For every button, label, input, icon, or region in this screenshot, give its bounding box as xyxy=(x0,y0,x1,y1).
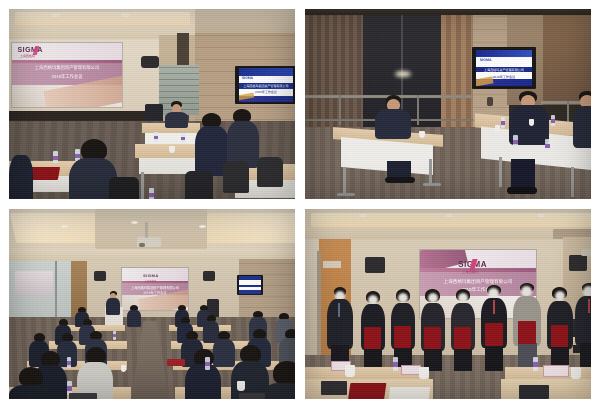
body xyxy=(127,310,141,327)
certificate-folder xyxy=(454,327,471,349)
name-card-2 xyxy=(401,365,421,375)
wall-speaker-left xyxy=(365,257,385,273)
body xyxy=(185,364,221,399)
audience-member-foreground xyxy=(263,361,295,399)
center-table-leg-left xyxy=(141,172,144,199)
audience-member-foreground xyxy=(185,349,221,399)
scene-classroom-audience: SIGMA 上海西格玛 上海西格玛集团资产管理有限公司 2019年工作会议 xyxy=(9,209,295,399)
slide-title-line2: 2019年工作会议 xyxy=(122,290,188,295)
certificate-folder xyxy=(424,327,441,349)
tv-band-top xyxy=(239,68,294,75)
glass-mullion xyxy=(55,261,57,323)
certificate-folder xyxy=(551,325,568,347)
group-person-5 xyxy=(451,289,475,371)
office-chair-4 xyxy=(257,157,283,187)
wall-speaker-right xyxy=(569,255,587,271)
photo-panel-bottom-left[interactable]: SIGMA 上海西格玛 上海西格玛集团资产管理有限公司 2019年工作会议 xyxy=(8,208,296,400)
person-center-shoes xyxy=(507,187,537,194)
downlight-3 xyxy=(537,214,545,217)
right-table-leg-a xyxy=(499,157,502,187)
paper-cup-2 xyxy=(419,367,429,379)
person-body xyxy=(573,106,591,148)
wall-tv-screen xyxy=(239,276,262,294)
certificate-folder xyxy=(364,327,381,349)
face xyxy=(428,293,438,303)
person-presenter xyxy=(164,101,188,127)
lanyard xyxy=(493,300,495,314)
water-bottle-3 xyxy=(53,151,58,163)
laptop-1 xyxy=(69,393,97,399)
attendee-body xyxy=(9,155,33,199)
slide-deck: SIGMA 上海西格玛 上海西格玛集团资产管理有限公司 2019年工作会议 xyxy=(122,268,188,310)
wall-tv: SIGMA 上海西格玛资产管理有限公司 2019年工作会议 xyxy=(472,47,536,89)
photo-panel-top-right[interactable]: SIGMA 上海西格玛资产管理有限公司 2019年工作会议 xyxy=(304,8,592,200)
water-bottle-3 xyxy=(513,135,518,147)
notebook-right xyxy=(519,385,549,399)
slide-title-line1: 上海西格玛集团资产管理有限公司 xyxy=(12,65,122,71)
water-bottle-3 xyxy=(205,357,210,370)
tv-title-line2: 2019年工作会议 xyxy=(476,74,532,79)
group-person-6 xyxy=(481,285,507,371)
wall-tv-screen: SIGMA 上海西格玛集团资产管理有限公司 2019年工作会议 xyxy=(239,68,294,101)
tv-band-bottom xyxy=(239,290,262,294)
water-bottle-2 xyxy=(533,357,538,371)
face xyxy=(555,291,565,301)
photo-panel-top-left[interactable]: SIGMA 上海西格玛 上海西格玛集团资产管理有限公司 2019年工作会议 SI… xyxy=(8,8,296,200)
red-folder xyxy=(167,359,185,366)
wall-exit-sign xyxy=(323,261,341,268)
wall-socket-panel xyxy=(487,97,493,106)
tv-title-line1: 上海西格玛集团资产管理有限公司 xyxy=(239,84,294,88)
body-suit xyxy=(327,299,353,349)
wall-speaker xyxy=(141,56,159,68)
speaker-body xyxy=(106,298,120,315)
certificate-folder xyxy=(485,323,503,346)
certificate-folder xyxy=(518,321,536,344)
tv-title-line2: 2019年工作会议 xyxy=(239,90,294,94)
group-person-1 xyxy=(327,287,353,371)
photo-collage: SIGMA 上海西格玛 上海西格玛集团资产管理有限公司 2019年工作会议 SI… xyxy=(0,0,600,408)
office-chair-1 xyxy=(109,177,139,199)
tv-band-mid xyxy=(239,285,262,288)
person-attendee-right-2 xyxy=(227,109,259,167)
certificate-folder xyxy=(394,326,411,348)
downlight-3 xyxy=(199,225,206,228)
downlight-1 xyxy=(61,225,68,228)
office-chair-2 xyxy=(185,171,213,199)
red-folder-on-table xyxy=(348,383,387,399)
paper-cup-1 xyxy=(165,135,170,141)
laptop-2 xyxy=(239,393,265,399)
ceiling-downlight-2 xyxy=(121,13,130,17)
paper-cup-2 xyxy=(121,365,126,372)
glass-slide-reflection xyxy=(15,271,53,295)
ceiling-downlight-1 xyxy=(51,13,60,17)
wall-tv-screen: SIGMA 上海西格玛资产管理有限公司 2019年工作会议 xyxy=(476,50,532,87)
sigma-logo-subtext: 上海西格玛 xyxy=(144,279,156,283)
water-bottle-2 xyxy=(181,133,185,143)
paper-cup-3 xyxy=(571,367,581,379)
left-table-leg-a xyxy=(343,167,346,195)
body xyxy=(263,383,295,399)
notebook-left xyxy=(321,381,347,395)
audience-member-foreground xyxy=(9,367,51,399)
right-table-leg-b xyxy=(571,167,574,197)
scene-award-group-photo: SIGMA 上海西格玛 上海西格玛集团资产管理有限公司 2019年工作会议 xyxy=(305,209,591,399)
legs xyxy=(454,346,472,371)
water-bottle-2 xyxy=(501,117,505,128)
group-person-2 xyxy=(361,291,385,371)
tv-slide-deck: SIGMA 上海西格玛集团资产管理有限公司 2019年工作会议 xyxy=(239,68,294,101)
window-glow xyxy=(395,71,411,77)
sigma-logo-text: SIGMA xyxy=(18,47,43,54)
wall-tv: SIGMA 上海西格玛集团资产管理有限公司 2019年工作会议 xyxy=(235,66,295,104)
sigma-logo-subtext: 上海西格玛 xyxy=(20,54,35,58)
wall-speaker-left xyxy=(94,271,106,281)
paper-cup-2 xyxy=(495,125,500,132)
photo-panel-bottom-right[interactable]: SIGMA 上海西格玛 上海西格玛集团资产管理有限公司 2019年工作会议 xyxy=(304,208,592,400)
tv-band-top xyxy=(476,50,532,57)
water-bottle-2 xyxy=(113,331,116,340)
body xyxy=(9,385,51,399)
legs xyxy=(485,345,503,371)
group-person-4 xyxy=(421,289,445,371)
paper-cup-1 xyxy=(529,119,534,126)
water-bottle-1 xyxy=(393,357,398,371)
ceiling-projector xyxy=(581,249,591,256)
name-card-3 xyxy=(543,365,569,377)
wall-door-frame xyxy=(317,251,321,355)
audience-member-foreground xyxy=(77,347,113,399)
lanyard xyxy=(588,299,590,313)
slide-title-line2: 2019年工作会议 xyxy=(12,74,122,80)
ceiling-cove-light-right xyxy=(202,213,295,243)
paper-cup-1 xyxy=(345,365,355,377)
water-bottle-1 xyxy=(67,357,71,368)
tv-slide-deck: SIGMA 上海西格玛资产管理有限公司 2019年工作会议 xyxy=(476,50,532,87)
person-speaker xyxy=(105,291,121,315)
face xyxy=(458,293,468,303)
presenter-body xyxy=(165,112,188,128)
left-table-leg-b xyxy=(429,159,432,185)
water-bottle-1 xyxy=(154,132,158,142)
left-table-foot-b xyxy=(423,183,441,186)
person-left-shoes xyxy=(385,177,415,183)
left-table-foot-a xyxy=(337,193,355,196)
tv-title-line1: 上海西格玛资产管理有限公司 xyxy=(476,67,532,72)
ceiling-cove-light-left xyxy=(10,213,102,243)
paper-cup-3 xyxy=(169,146,175,153)
tv-band-top xyxy=(239,276,262,280)
wall-tv xyxy=(237,275,263,295)
audience-member xyxy=(127,305,141,327)
sigma-logo-subtext: 上海西格玛 xyxy=(462,269,479,274)
water-bottle-6 xyxy=(149,188,154,199)
person-seated-far-right xyxy=(573,91,591,147)
scene-meeting-room-projector: SIGMA 上海西格玛 上海西格玛集团资产管理有限公司 2019年工作会议 SI… xyxy=(9,9,295,199)
ceiling xyxy=(305,9,591,15)
person-body xyxy=(375,109,411,139)
group-person-9 xyxy=(575,283,591,371)
projection-screen: SIGMA 上海西格玛 上海西格玛集团资产管理有限公司 2019年工作会议 xyxy=(11,42,123,108)
face xyxy=(398,293,408,303)
water-bottle-4 xyxy=(545,139,550,151)
tv-slide-deck xyxy=(239,276,262,294)
downlight-1 xyxy=(359,214,367,217)
person-seated-left xyxy=(375,95,411,137)
office-chair-3 xyxy=(223,161,249,193)
paper-sheet xyxy=(388,387,430,399)
hair xyxy=(273,361,295,385)
tv-logo-text: SIGMA xyxy=(242,76,253,80)
scene-night-meeting-room: SIGMA 上海西格玛资产管理有限公司 2019年工作会议 xyxy=(305,9,591,199)
slide-deck: SIGMA 上海西格玛 上海西格玛集团资产管理有限公司 2019年工作会议 xyxy=(12,43,122,107)
person-attendee-left-edge xyxy=(9,155,33,199)
water-bottle-1 xyxy=(551,115,555,126)
paper-cup-1 xyxy=(237,381,245,391)
group-person-8 xyxy=(547,287,573,371)
wall-speaker-right xyxy=(203,271,215,281)
downlight-2 xyxy=(131,221,138,224)
paper-cup-3 xyxy=(419,131,425,138)
tv-logo-text: SIGMA xyxy=(480,58,492,62)
downlight-2 xyxy=(445,214,453,217)
ceiling-cove-light xyxy=(15,12,190,25)
hair xyxy=(19,367,43,387)
projector-mount xyxy=(145,222,148,238)
lanyard xyxy=(338,303,340,317)
projector-lens xyxy=(139,243,145,247)
